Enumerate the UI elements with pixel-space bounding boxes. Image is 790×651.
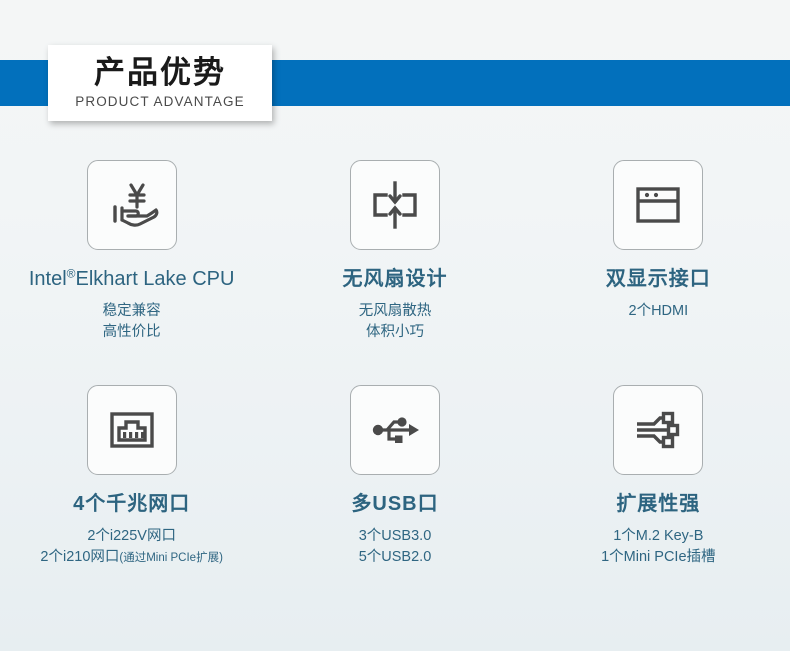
feature-desc-usb: 3个USB3.0 5个USB2.0 [359,526,432,568]
page-header-banner: 产品优势 PRODUCT ADVANTAGE [0,0,790,142]
feature-desc-line: 2个HDMI [629,301,689,322]
feature-item-fanless: 无风扇设计 无风扇散热 体积小巧 [263,160,526,343]
feature-desc-main: 2个i210网口 [40,549,119,565]
feature-title-usb: 多USB口 [351,492,438,517]
feature-desc-display: 2个HDMI [629,301,689,322]
feature-title-display: 双显示接口 [606,267,711,292]
banner-title-card: 产品优势 PRODUCT ADVANTAGE [48,45,272,121]
feature-title-ethernet: 4个千兆网口 [73,492,190,517]
feature-desc-line: 稳定兼容 [103,301,161,322]
feature-desc-line: 无风扇散热 [359,301,432,322]
feature-title-cpu-model: Elkhart Lake CPU [76,268,235,290]
feature-grid: Intel®Elkhart Lake CPU 稳定兼容 高性价比 [0,160,790,568]
icon-box-usb [350,385,440,475]
icon-box-cpu [87,160,177,250]
expansion-circuit-icon [630,402,686,458]
feature-title-fanless: 无风扇设计 [342,267,447,292]
feature-desc-line-with-note: 2个i210网口(通过Mini PCIe扩展) [40,547,223,568]
feature-desc-line: 2个i225V网口 [40,526,223,547]
feature-row-1: Intel®Elkhart Lake CPU 稳定兼容 高性价比 [0,160,790,343]
feature-desc-line: 高性价比 [103,322,161,343]
feature-title-cpu-brand: Intel [29,268,67,290]
banner-title-chinese: 产品优势 [94,56,226,92]
feature-item-cpu: Intel®Elkhart Lake CPU 稳定兼容 高性价比 [0,160,263,343]
ethernet-rj45-icon [104,402,160,458]
icon-box-fanless [350,160,440,250]
icon-box-ethernet [87,385,177,475]
feature-title-expansion: 扩展性强 [616,492,700,517]
feature-desc-expansion: 1个M.2 Key-B 1个Mini PCIe插槽 [601,526,715,568]
feature-desc-line: 5个USB2.0 [359,547,432,568]
icon-box-expansion [613,385,703,475]
feature-desc-line: 1个M.2 Key-B [601,526,715,547]
feature-desc-line: 3个USB3.0 [359,526,432,547]
hand-holding-yuan-icon [103,176,161,234]
feature-row-2: 4个千兆网口 2个i225V网口 2个i210网口(通过Mini PCIe扩展) [0,385,790,568]
usb-trident-icon [367,402,423,458]
dual-display-window-icon [630,177,686,233]
feature-item-expansion: 扩展性强 1个M.2 Key-B 1个Mini PCIe插槽 [527,385,790,568]
feature-title-cpu: Intel®Elkhart Lake CPU [29,267,235,292]
compact-fanless-icon [367,177,423,233]
icon-box-display [613,160,703,250]
feature-desc-line: 体积小巧 [359,322,432,343]
feature-desc-ethernet: 2个i225V网口 2个i210网口(通过Mini PCIe扩展) [40,526,223,568]
feature-item-ethernet: 4个千兆网口 2个i225V网口 2个i210网口(通过Mini PCIe扩展) [0,385,263,568]
feature-desc-fanless: 无风扇散热 体积小巧 [359,301,432,343]
feature-desc-cpu: 稳定兼容 高性价比 [103,301,161,343]
feature-desc-line: 1个Mini PCIe插槽 [601,547,715,568]
feature-desc-note: (通过Mini PCIe扩展) [119,552,223,564]
registered-trademark-icon: ® [67,266,76,280]
feature-item-display: 双显示接口 2个HDMI [527,160,790,343]
banner-title-english: PRODUCT ADVANTAGE [75,95,244,110]
feature-item-usb: 多USB口 3个USB3.0 5个USB2.0 [263,385,526,568]
